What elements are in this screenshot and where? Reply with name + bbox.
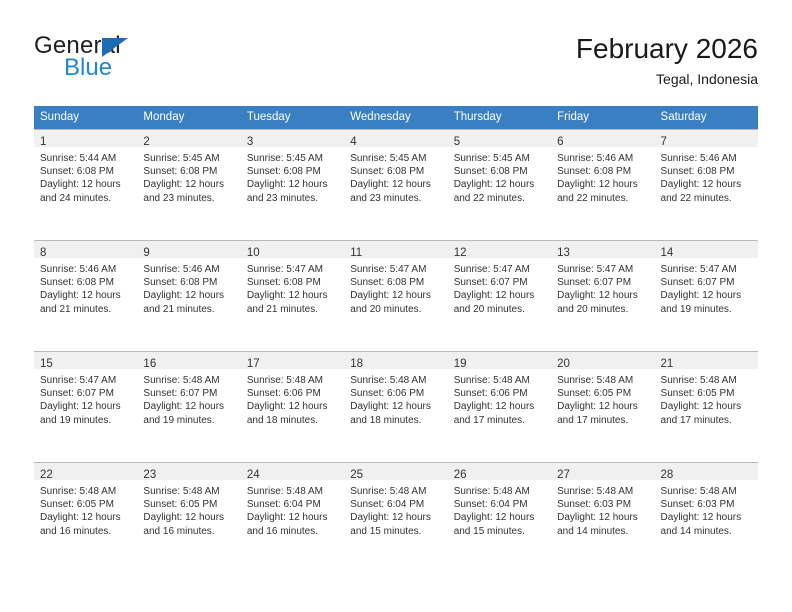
day-number-band: 18 (344, 352, 447, 369)
page-subtitle-location: Tegal, Indonesia (576, 69, 758, 89)
day-number-band: 11 (344, 241, 447, 258)
daylight-text-line2: and 22 minutes. (661, 192, 753, 205)
daylight-text-line1: Daylight: 12 hours (350, 178, 442, 191)
day-number: 9 (143, 247, 149, 259)
sunset-text: Sunset: 6:08 PM (350, 165, 442, 178)
daylight-text-line2: and 17 minutes. (661, 414, 753, 427)
weekday-header-tuesday: Tuesday (241, 106, 344, 129)
day-number-band: 6 (551, 130, 654, 147)
day-details: Sunrise: 5:48 AM Sunset: 6:07 PM Dayligh… (137, 369, 240, 427)
daylight-text-line2: and 18 minutes. (247, 414, 339, 427)
daylight-text-line1: Daylight: 12 hours (557, 511, 649, 524)
daylight-text-line1: Daylight: 12 hours (557, 178, 649, 191)
day-number-band: 2 (137, 130, 240, 147)
sunset-text: Sunset: 6:08 PM (40, 276, 132, 289)
day-number-band: 24 (241, 463, 344, 480)
daylight-text-line2: and 19 minutes. (40, 414, 132, 427)
day-cell[interactable]: 4 Sunrise: 5:45 AM Sunset: 6:08 PM Dayli… (344, 130, 447, 240)
sunrise-text: Sunrise: 5:48 AM (143, 485, 235, 498)
day-cell[interactable]: 21 Sunrise: 5:48 AM Sunset: 6:05 PM Dayl… (655, 352, 758, 462)
day-number-band: 8 (34, 241, 137, 258)
day-number-band: 22 (34, 463, 137, 480)
sunset-text: Sunset: 6:08 PM (40, 165, 132, 178)
daylight-text-line1: Daylight: 12 hours (454, 289, 546, 302)
day-cell[interactable]: 13 Sunrise: 5:47 AM Sunset: 6:07 PM Dayl… (551, 241, 654, 351)
sunset-text: Sunset: 6:03 PM (557, 498, 649, 511)
daylight-text-line2: and 22 minutes. (454, 192, 546, 205)
week-row: 22 Sunrise: 5:48 AM Sunset: 6:05 PM Dayl… (34, 462, 758, 573)
daylight-text-line2: and 23 minutes. (247, 192, 339, 205)
day-details: Sunrise: 5:47 AM Sunset: 6:08 PM Dayligh… (344, 258, 447, 316)
day-number: 6 (557, 136, 563, 148)
sunrise-text: Sunrise: 5:48 AM (350, 485, 442, 498)
day-number: 15 (40, 358, 53, 370)
day-number: 21 (661, 358, 674, 370)
weekday-header-monday: Monday (137, 106, 240, 129)
day-number: 23 (143, 469, 156, 481)
day-cell[interactable]: 5 Sunrise: 5:45 AM Sunset: 6:08 PM Dayli… (448, 130, 551, 240)
sunrise-text: Sunrise: 5:45 AM (454, 152, 546, 165)
daylight-text-line2: and 18 minutes. (350, 414, 442, 427)
day-number-band: 7 (655, 130, 758, 147)
daylight-text-line2: and 14 minutes. (557, 525, 649, 538)
week-row: 1 Sunrise: 5:44 AM Sunset: 6:08 PM Dayli… (34, 129, 758, 240)
day-number: 24 (247, 469, 260, 481)
day-number: 12 (454, 247, 467, 259)
daylight-text-line2: and 24 minutes. (40, 192, 132, 205)
weekday-header-row: Sunday Monday Tuesday Wednesday Thursday… (34, 106, 758, 129)
week-row: 15 Sunrise: 5:47 AM Sunset: 6:07 PM Dayl… (34, 351, 758, 462)
day-details: Sunrise: 5:45 AM Sunset: 6:08 PM Dayligh… (241, 147, 344, 205)
day-number-band: 28 (655, 463, 758, 480)
sunrise-text: Sunrise: 5:45 AM (247, 152, 339, 165)
daylight-text-line2: and 16 minutes. (40, 525, 132, 538)
day-number-band: 17 (241, 352, 344, 369)
sunrise-text: Sunrise: 5:46 AM (557, 152, 649, 165)
daylight-text-line1: Daylight: 12 hours (247, 511, 339, 524)
sunset-text: Sunset: 6:08 PM (557, 165, 649, 178)
daylight-text-line1: Daylight: 12 hours (40, 289, 132, 302)
day-number: 2 (143, 136, 149, 148)
day-details: Sunrise: 5:46 AM Sunset: 6:08 PM Dayligh… (34, 258, 137, 316)
page-title: February 2026 (576, 32, 758, 66)
day-cell[interactable]: 9 Sunrise: 5:46 AM Sunset: 6:08 PM Dayli… (137, 241, 240, 351)
daylight-text-line1: Daylight: 12 hours (247, 178, 339, 191)
day-cell[interactable]: 6 Sunrise: 5:46 AM Sunset: 6:08 PM Dayli… (551, 130, 654, 240)
weekday-header-wednesday: Wednesday (344, 106, 447, 129)
day-number: 25 (350, 469, 363, 481)
day-cell[interactable]: 14 Sunrise: 5:47 AM Sunset: 6:07 PM Dayl… (655, 241, 758, 351)
day-number: 4 (350, 136, 356, 148)
sunrise-text: Sunrise: 5:46 AM (40, 263, 132, 276)
day-details: Sunrise: 5:48 AM Sunset: 6:03 PM Dayligh… (655, 480, 758, 538)
day-cell[interactable]: 19 Sunrise: 5:48 AM Sunset: 6:06 PM Dayl… (448, 352, 551, 462)
calendar-grid: Sunday Monday Tuesday Wednesday Thursday… (34, 106, 758, 573)
daylight-text-line2: and 17 minutes. (454, 414, 546, 427)
daylight-text-line1: Daylight: 12 hours (40, 400, 132, 413)
sunrise-text: Sunrise: 5:48 AM (557, 374, 649, 387)
day-cell[interactable]: 10 Sunrise: 5:47 AM Sunset: 6:08 PM Dayl… (241, 241, 344, 351)
day-details: Sunrise: 5:45 AM Sunset: 6:08 PM Dayligh… (137, 147, 240, 205)
day-cell[interactable]: 3 Sunrise: 5:45 AM Sunset: 6:08 PM Dayli… (241, 130, 344, 240)
daylight-text-line1: Daylight: 12 hours (661, 400, 753, 413)
day-number-band: 27 (551, 463, 654, 480)
daylight-text-line1: Daylight: 12 hours (247, 289, 339, 302)
sunset-text: Sunset: 6:05 PM (661, 387, 753, 400)
sunset-text: Sunset: 6:06 PM (350, 387, 442, 400)
day-number-band: 9 (137, 241, 240, 258)
sunrise-text: Sunrise: 5:46 AM (661, 152, 753, 165)
daylight-text-line1: Daylight: 12 hours (454, 178, 546, 191)
sunset-text: Sunset: 6:07 PM (40, 387, 132, 400)
day-details: Sunrise: 5:47 AM Sunset: 6:07 PM Dayligh… (448, 258, 551, 316)
day-number: 7 (661, 136, 667, 148)
sunrise-text: Sunrise: 5:48 AM (661, 374, 753, 387)
sunrise-text: Sunrise: 5:47 AM (454, 263, 546, 276)
day-number: 13 (557, 247, 570, 259)
daylight-text-line1: Daylight: 12 hours (143, 511, 235, 524)
day-details: Sunrise: 5:48 AM Sunset: 6:03 PM Dayligh… (551, 480, 654, 538)
day-details: Sunrise: 5:46 AM Sunset: 6:08 PM Dayligh… (137, 258, 240, 316)
daylight-text-line1: Daylight: 12 hours (661, 289, 753, 302)
sunrise-text: Sunrise: 5:45 AM (350, 152, 442, 165)
sunrise-text: Sunrise: 5:48 AM (557, 485, 649, 498)
day-details: Sunrise: 5:48 AM Sunset: 6:06 PM Dayligh… (448, 369, 551, 427)
sunrise-text: Sunrise: 5:48 AM (143, 374, 235, 387)
day-number-band: 13 (551, 241, 654, 258)
day-number-band: 5 (448, 130, 551, 147)
day-details: Sunrise: 5:45 AM Sunset: 6:08 PM Dayligh… (448, 147, 551, 205)
sunrise-text: Sunrise: 5:48 AM (454, 374, 546, 387)
daylight-text-line2: and 15 minutes. (350, 525, 442, 538)
day-number: 18 (350, 358, 363, 370)
day-cell[interactable]: 7 Sunrise: 5:46 AM Sunset: 6:08 PM Dayli… (655, 130, 758, 240)
day-number: 28 (661, 469, 674, 481)
sunset-text: Sunset: 6:03 PM (661, 498, 753, 511)
day-number-band: 16 (137, 352, 240, 369)
day-details: Sunrise: 5:48 AM Sunset: 6:06 PM Dayligh… (241, 369, 344, 427)
sunset-text: Sunset: 6:04 PM (247, 498, 339, 511)
day-number: 1 (40, 136, 46, 148)
day-details: Sunrise: 5:48 AM Sunset: 6:05 PM Dayligh… (137, 480, 240, 538)
sunrise-text: Sunrise: 5:46 AM (143, 263, 235, 276)
day-details: Sunrise: 5:45 AM Sunset: 6:08 PM Dayligh… (344, 147, 447, 205)
title-block: February 2026 Tegal, Indonesia (576, 32, 758, 89)
day-cell[interactable]: 11 Sunrise: 5:47 AM Sunset: 6:08 PM Dayl… (344, 241, 447, 351)
daylight-text-line1: Daylight: 12 hours (143, 178, 235, 191)
sunrise-text: Sunrise: 5:47 AM (40, 374, 132, 387)
day-number-band: 19 (448, 352, 551, 369)
weekday-header-saturday: Saturday (655, 106, 758, 129)
day-number: 3 (247, 136, 253, 148)
sunrise-text: Sunrise: 5:48 AM (661, 485, 753, 498)
day-details: Sunrise: 5:46 AM Sunset: 6:08 PM Dayligh… (551, 147, 654, 205)
sunset-text: Sunset: 6:06 PM (247, 387, 339, 400)
day-number: 11 (350, 247, 362, 259)
day-details: Sunrise: 5:48 AM Sunset: 6:04 PM Dayligh… (344, 480, 447, 538)
day-number: 19 (454, 358, 467, 370)
day-details: Sunrise: 5:48 AM Sunset: 6:04 PM Dayligh… (448, 480, 551, 538)
day-cell[interactable]: 28 Sunrise: 5:48 AM Sunset: 6:03 PM Dayl… (655, 463, 758, 573)
sunrise-text: Sunrise: 5:47 AM (247, 263, 339, 276)
daylight-text-line2: and 20 minutes. (350, 303, 442, 316)
daylight-text-line2: and 21 minutes. (247, 303, 339, 316)
sunset-text: Sunset: 6:07 PM (143, 387, 235, 400)
sunset-text: Sunset: 6:08 PM (247, 165, 339, 178)
daylight-text-line1: Daylight: 12 hours (454, 400, 546, 413)
daylight-text-line1: Daylight: 12 hours (661, 178, 753, 191)
day-number-band: 14 (655, 241, 758, 258)
day-cell[interactable]: 8 Sunrise: 5:46 AM Sunset: 6:08 PM Dayli… (34, 241, 137, 351)
day-number: 20 (557, 358, 570, 370)
page-header: General Blue February 2026 Tegal, Indone… (34, 32, 758, 94)
sunrise-text: Sunrise: 5:47 AM (557, 263, 649, 276)
daylight-text-line2: and 21 minutes. (143, 303, 235, 316)
day-number: 26 (454, 469, 467, 481)
day-cell[interactable]: 24 Sunrise: 5:48 AM Sunset: 6:04 PM Dayl… (241, 463, 344, 573)
sunset-text: Sunset: 6:05 PM (40, 498, 132, 511)
sunrise-text: Sunrise: 5:48 AM (40, 485, 132, 498)
day-number-band: 21 (655, 352, 758, 369)
daylight-text-line2: and 19 minutes. (661, 303, 753, 316)
day-number-band: 23 (137, 463, 240, 480)
weekday-header-thursday: Thursday (448, 106, 551, 129)
sunrise-text: Sunrise: 5:48 AM (247, 374, 339, 387)
day-cell[interactable]: 20 Sunrise: 5:48 AM Sunset: 6:05 PM Dayl… (551, 352, 654, 462)
day-details: Sunrise: 5:48 AM Sunset: 6:05 PM Dayligh… (34, 480, 137, 538)
day-details: Sunrise: 5:46 AM Sunset: 6:08 PM Dayligh… (655, 147, 758, 205)
day-number-band: 10 (241, 241, 344, 258)
day-cell[interactable]: 25 Sunrise: 5:48 AM Sunset: 6:04 PM Dayl… (344, 463, 447, 573)
day-number-band: 1 (34, 130, 137, 147)
daylight-text-line1: Daylight: 12 hours (557, 289, 649, 302)
day-cell[interactable]: 17 Sunrise: 5:48 AM Sunset: 6:06 PM Dayl… (241, 352, 344, 462)
day-cell[interactable]: 26 Sunrise: 5:48 AM Sunset: 6:04 PM Dayl… (448, 463, 551, 573)
daylight-text-line2: and 22 minutes. (557, 192, 649, 205)
day-details: Sunrise: 5:48 AM Sunset: 6:04 PM Dayligh… (241, 480, 344, 538)
sunset-text: Sunset: 6:08 PM (143, 165, 235, 178)
day-cell[interactable]: 2 Sunrise: 5:45 AM Sunset: 6:08 PM Dayli… (137, 130, 240, 240)
sunset-text: Sunset: 6:08 PM (661, 165, 753, 178)
day-number-band: 3 (241, 130, 344, 147)
sunrise-text: Sunrise: 5:44 AM (40, 152, 132, 165)
daylight-text-line2: and 23 minutes. (143, 192, 235, 205)
sunrise-text: Sunrise: 5:48 AM (454, 485, 546, 498)
daylight-text-line1: Daylight: 12 hours (143, 400, 235, 413)
sunset-text: Sunset: 6:07 PM (454, 276, 546, 289)
day-number-band: 25 (344, 463, 447, 480)
day-details: Sunrise: 5:48 AM Sunset: 6:06 PM Dayligh… (344, 369, 447, 427)
daylight-text-line1: Daylight: 12 hours (350, 289, 442, 302)
daylight-text-line1: Daylight: 12 hours (350, 511, 442, 524)
daylight-text-line2: and 14 minutes. (661, 525, 753, 538)
day-number: 5 (454, 136, 460, 148)
day-number-band: 20 (551, 352, 654, 369)
day-cell[interactable]: 23 Sunrise: 5:48 AM Sunset: 6:05 PM Dayl… (137, 463, 240, 573)
sunset-text: Sunset: 6:07 PM (557, 276, 649, 289)
daylight-text-line1: Daylight: 12 hours (557, 400, 649, 413)
day-details: Sunrise: 5:48 AM Sunset: 6:05 PM Dayligh… (655, 369, 758, 427)
sunset-text: Sunset: 6:05 PM (557, 387, 649, 400)
daylight-text-line1: Daylight: 12 hours (143, 289, 235, 302)
day-number: 14 (661, 247, 674, 259)
daylight-text-line1: Daylight: 12 hours (350, 400, 442, 413)
day-details: Sunrise: 5:48 AM Sunset: 6:05 PM Dayligh… (551, 369, 654, 427)
sunset-text: Sunset: 6:06 PM (454, 387, 546, 400)
daylight-text-line2: and 21 minutes. (40, 303, 132, 316)
brand-name-blue: Blue (64, 54, 112, 82)
daylight-text-line2: and 15 minutes. (454, 525, 546, 538)
day-number-band: 26 (448, 463, 551, 480)
daylight-text-line1: Daylight: 12 hours (661, 511, 753, 524)
day-details: Sunrise: 5:47 AM Sunset: 6:07 PM Dayligh… (655, 258, 758, 316)
day-number-band: 15 (34, 352, 137, 369)
day-number-band: 4 (344, 130, 447, 147)
day-number: 22 (40, 469, 53, 481)
day-number: 10 (247, 247, 260, 259)
daylight-text-line2: and 23 minutes. (350, 192, 442, 205)
sunset-text: Sunset: 6:04 PM (350, 498, 442, 511)
day-cell[interactable]: 12 Sunrise: 5:47 AM Sunset: 6:07 PM Dayl… (448, 241, 551, 351)
daylight-text-line2: and 16 minutes. (143, 525, 235, 538)
day-number: 8 (40, 247, 46, 259)
daylight-text-line2: and 19 minutes. (143, 414, 235, 427)
day-cell[interactable]: 27 Sunrise: 5:48 AM Sunset: 6:03 PM Dayl… (551, 463, 654, 573)
day-cell[interactable]: 16 Sunrise: 5:48 AM Sunset: 6:07 PM Dayl… (137, 352, 240, 462)
sunset-text: Sunset: 6:04 PM (454, 498, 546, 511)
sunrise-text: Sunrise: 5:48 AM (247, 485, 339, 498)
sunset-text: Sunset: 6:08 PM (247, 276, 339, 289)
sunset-text: Sunset: 6:08 PM (143, 276, 235, 289)
sunrise-text: Sunrise: 5:45 AM (143, 152, 235, 165)
day-number-band: 12 (448, 241, 551, 258)
sunrise-text: Sunrise: 5:48 AM (350, 374, 442, 387)
day-cell[interactable]: 18 Sunrise: 5:48 AM Sunset: 6:06 PM Dayl… (344, 352, 447, 462)
daylight-text-line1: Daylight: 12 hours (454, 511, 546, 524)
sunset-text: Sunset: 6:07 PM (661, 276, 753, 289)
brand-logo[interactable]: General Blue (34, 32, 284, 90)
day-details: Sunrise: 5:47 AM Sunset: 6:07 PM Dayligh… (34, 369, 137, 427)
day-details: Sunrise: 5:47 AM Sunset: 6:08 PM Dayligh… (241, 258, 344, 316)
daylight-text-line2: and 20 minutes. (454, 303, 546, 316)
weekday-header-sunday: Sunday (34, 106, 137, 129)
daylight-text-line1: Daylight: 12 hours (40, 178, 132, 191)
sunset-text: Sunset: 6:08 PM (350, 276, 442, 289)
daylight-text-line2: and 16 minutes. (247, 525, 339, 538)
daylight-text-line2: and 17 minutes. (557, 414, 649, 427)
weekday-header-friday: Friday (551, 106, 654, 129)
sunrise-text: Sunrise: 5:47 AM (350, 263, 442, 276)
day-details: Sunrise: 5:47 AM Sunset: 6:07 PM Dayligh… (551, 258, 654, 316)
daylight-text-line1: Daylight: 12 hours (40, 511, 132, 524)
daylight-text-line2: and 20 minutes. (557, 303, 649, 316)
day-number: 16 (143, 358, 156, 370)
day-cell[interactable]: 1 Sunrise: 5:44 AM Sunset: 6:08 PM Dayli… (34, 130, 137, 240)
calendar-page: General Blue February 2026 Tegal, Indone… (0, 0, 792, 612)
day-number: 17 (247, 358, 260, 370)
daylight-text-line1: Daylight: 12 hours (247, 400, 339, 413)
sunset-text: Sunset: 6:05 PM (143, 498, 235, 511)
week-row: 8 Sunrise: 5:46 AM Sunset: 6:08 PM Dayli… (34, 240, 758, 351)
day-cell[interactable]: 22 Sunrise: 5:48 AM Sunset: 6:05 PM Dayl… (34, 463, 137, 573)
sunset-text: Sunset: 6:08 PM (454, 165, 546, 178)
day-cell[interactable]: 15 Sunrise: 5:47 AM Sunset: 6:07 PM Dayl… (34, 352, 137, 462)
day-number: 27 (557, 469, 570, 481)
day-details: Sunrise: 5:44 AM Sunset: 6:08 PM Dayligh… (34, 147, 137, 205)
sunrise-text: Sunrise: 5:47 AM (661, 263, 753, 276)
